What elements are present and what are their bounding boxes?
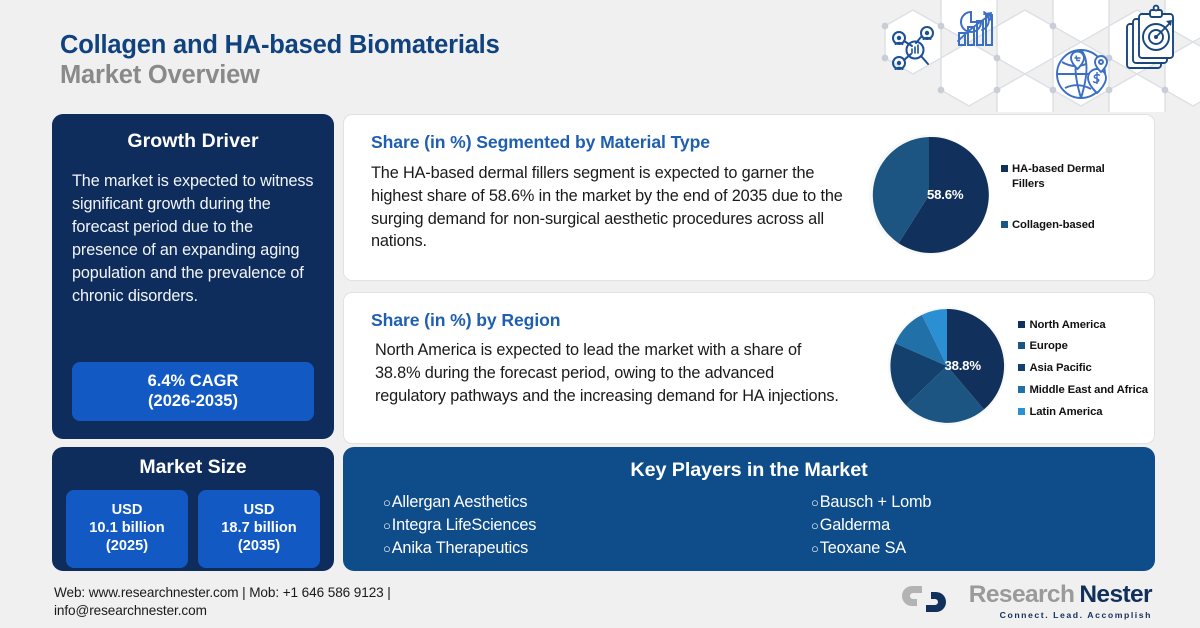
legend-swatch-icon [1001,221,1008,228]
cagr-badge: 6.4% CAGR (2026-2035) [72,362,314,421]
region-pie-chart: 38.8% North America Europe Asia Pacific [884,303,1148,434]
legend-swatch-icon [1018,342,1025,349]
legend-swatch-icon [1001,165,1008,172]
legend-item: HA-based Dermal Fillers [1001,162,1140,191]
material-type-legend: HA-based Dermal Fillers Collagen-based [1001,162,1140,232]
legend-label: North America [1029,318,1105,333]
growth-driver-panel: Growth Driver The market is expected to … [52,114,334,439]
legend-label: Middle East and Africa [1029,383,1148,398]
legend-item: Latin America [1018,405,1148,420]
list-item: ○ Integra LifeSciences [383,514,749,537]
logo-nester-word: Nester [1079,581,1152,608]
hexagon-decoration-band [855,0,1200,112]
key-player-name: Integra LifeSciences [392,514,537,537]
growth-bar-chart-icon [958,12,992,45]
cagr-value: 6.4% CAGR [76,371,310,391]
key-player-name: Galderma [820,514,890,537]
material-type-text: The HA-based dermal fillers segment is e… [371,162,849,253]
material-type-card: Share (in %) Segmented by Material Type … [343,114,1155,281]
circle-bullet-icon: ○ [383,517,391,535]
logo-text-block: ResearchNester Connect. Lead. Accomplish [969,583,1152,619]
contact-line-web-mobile: Web: www.researchnester.com | Mob: +1 64… [54,584,524,602]
market-size-year: (2035) [200,538,318,556]
key-player-name: Bausch + Lomb [820,491,932,514]
circle-bullet-icon: ○ [383,494,391,512]
key-players-column-right: ○ Bausch + Lomb ○ Galderma ○ Teoxane SA [749,491,1121,559]
list-item: ○ Galderma [811,514,1121,537]
legend-swatch-icon [1018,364,1025,371]
list-item: ○ Bausch + Lomb [811,491,1121,514]
legend-label: Europe [1029,339,1067,354]
list-item: ○ Allergan Aesthetics [383,491,749,514]
legend-label: Asia Pacific [1029,361,1091,376]
market-size-heading: Market Size [66,456,320,479]
market-size-value: 10.1 billion [68,520,186,538]
pie-region: 38.8% [884,303,1010,434]
legend-item: Europe [1018,339,1148,354]
material-pie-data-label: 58.6% [927,187,963,202]
clipboard-target-icon [1127,6,1173,68]
legend-item: Middle East and Africa [1018,383,1148,398]
legend-label: HA-based Dermal Fillers [1012,162,1140,191]
legend-swatch-icon [1018,321,1025,328]
growth-driver-heading: Growth Driver [72,130,314,153]
global-finance-icon [1057,50,1107,98]
contact-line-email: info@researchnester.com [54,602,524,620]
legend-swatch-icon [1018,386,1025,393]
circle-bullet-icon: ○ [811,540,819,558]
material-type-pie-chart: 58.6% HA-based Dermal Fillers Collagen-b… [865,131,1140,264]
legend-label: Latin America [1029,405,1102,420]
market-size-currency: USD [200,502,318,520]
key-player-name: Teoxane SA [820,537,906,560]
infographic-page: Collagen and HA-based Biomaterials Marke… [0,0,1200,628]
pie-material: 58.6% [865,131,993,264]
region-text: North America is expected to lead the ma… [375,339,845,407]
legend-label: Collagen-based [1012,218,1095,233]
key-players-column-left: ○ Allergan Aesthetics ○ Integra LifeScie… [377,491,749,559]
legend-item: North America [1018,318,1148,333]
legend-item: Asia Pacific [1018,361,1148,376]
key-players-panel: Key Players in the Market ○ Allergan Aes… [343,447,1155,571]
market-size-value: 18.7 billion [200,520,318,538]
research-nester-logo: ResearchNester Connect. Lead. Accomplish [900,582,1152,621]
market-size-panel: Market Size USD 10.1 billion (2025) USD … [52,447,334,571]
logo-tagline: Connect. Lead. Accomplish [969,611,1152,620]
page-header: Collagen and HA-based Biomaterials Marke… [60,30,500,90]
logo-research-word: Research [969,581,1075,608]
market-size-box-2035: USD 18.7 billion (2035) [198,490,320,568]
footer-contact: Web: www.researchnester.com | Mob: +1 64… [54,584,524,621]
region-card: Share (in %) by Region North America is … [343,292,1155,444]
region-pie-data-label: 38.8% [944,358,980,373]
list-item: ○ Teoxane SA [811,537,1121,560]
key-players-heading: Key Players in the Market [343,459,1155,482]
key-player-name: Anika Therapeutics [392,537,528,560]
region-legend: North America Europe Asia Pacific Middle… [1018,318,1148,419]
circle-bullet-icon: ○ [811,494,819,512]
page-subtitle: Market Overview [60,60,500,90]
growth-driver-text: The market is expected to witness signif… [72,170,314,308]
page-title: Collagen and HA-based Biomaterials [60,30,500,60]
market-size-currency: USD [68,502,186,520]
list-item: ○ Anika Therapeutics [383,537,749,560]
key-player-name: Allergan Aesthetics [392,491,528,514]
logo-mark-icon [900,582,962,621]
legend-swatch-icon [1018,408,1025,415]
circle-bullet-icon: ○ [383,540,391,558]
market-size-year: (2025) [68,538,186,556]
network-research-icon [893,27,933,69]
cagr-period: (2026-2035) [76,391,310,411]
logo-wordmark: ResearchNester [969,583,1152,608]
legend-item: Collagen-based [1001,218,1140,233]
circle-bullet-icon: ○ [811,517,819,535]
market-size-box-2025: USD 10.1 billion (2025) [66,490,188,568]
